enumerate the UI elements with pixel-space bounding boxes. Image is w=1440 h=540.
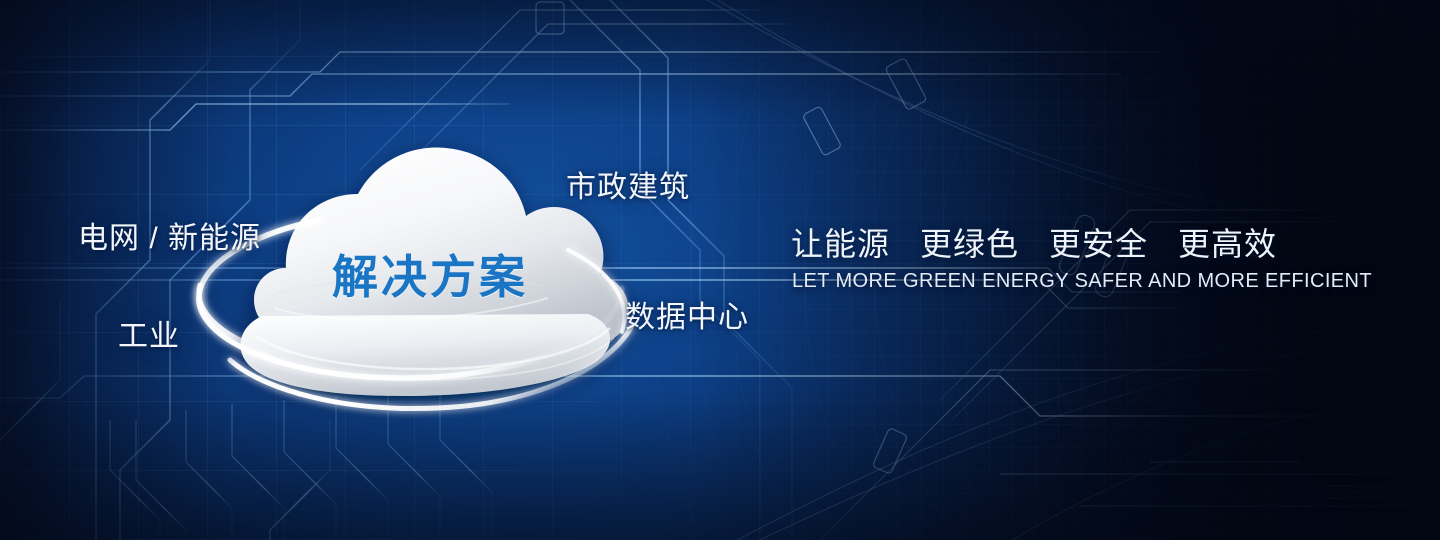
tagline-chinese: 让能源更绿色更安全更高效 bbox=[791, 228, 1277, 260]
label-civic-building: 市政建筑 bbox=[566, 173, 690, 203]
label-grid-new-energy: 电网 / 新能源 bbox=[78, 224, 261, 254]
cloud-title: 解决方案 bbox=[332, 254, 528, 300]
solution-banner: 解决方案 电网 / 新能源 工业 市政建筑 数据中心 让能源更绿色更安全更高效 … bbox=[0, 0, 1440, 540]
tagline-part-2: 更绿色 bbox=[920, 226, 1019, 262]
tagline-part-1: 让能源 bbox=[791, 226, 890, 262]
tagline-english: LET MORE GREEN ENERGY SAFER AND MORE EFF… bbox=[792, 271, 1372, 291]
label-data-center: 数据中心 bbox=[625, 303, 749, 333]
tagline-part-3: 更安全 bbox=[1049, 226, 1148, 262]
label-industry: 工业 bbox=[118, 322, 180, 352]
tagline-part-4: 更高效 bbox=[1178, 226, 1277, 262]
